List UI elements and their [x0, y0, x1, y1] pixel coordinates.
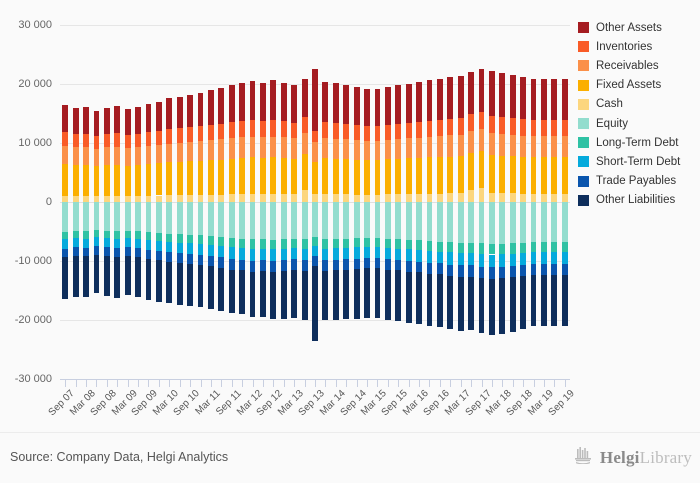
bar-segment [177, 243, 183, 253]
bar-column[interactable] [499, 25, 505, 379]
bar-segment [364, 160, 370, 195]
bar-series-group [60, 25, 570, 379]
bar-segment [458, 202, 464, 243]
bar-segment [198, 255, 204, 265]
bar-segment [551, 242, 557, 252]
bar-segment [489, 202, 495, 244]
bar-column[interactable] [250, 25, 256, 379]
bar-segment [416, 158, 422, 194]
bar-segment [458, 156, 464, 193]
bar-segment [208, 266, 214, 309]
bar-segment [239, 137, 245, 158]
bar-segment [322, 249, 328, 261]
legend-item[interactable]: Receivables [578, 56, 700, 75]
bar-segment [354, 160, 360, 195]
bar-segment [312, 266, 318, 340]
bar-segment [114, 257, 120, 297]
bar-segment [499, 134, 505, 156]
legend-item[interactable]: Other Liabilities [578, 191, 700, 210]
bar-column[interactable] [343, 25, 349, 379]
bar-segment [166, 262, 172, 304]
bar-segment [385, 87, 391, 125]
bar-segment [83, 202, 89, 231]
bar-column[interactable] [479, 25, 485, 379]
bar-segment [364, 258, 370, 268]
bar-segment [416, 82, 422, 122]
bar-segment [520, 253, 526, 265]
bar-segment [354, 140, 360, 159]
bar-segment [551, 136, 557, 157]
bar-segment [104, 231, 110, 238]
bar-segment [447, 135, 453, 156]
chart-container: 30 00020 00010 0000-10 000-20 000-30 000… [0, 0, 700, 483]
bar-segment [114, 202, 120, 231]
bar-segment [531, 202, 537, 242]
bar-segment [437, 120, 443, 137]
bar-segment [520, 136, 526, 157]
bar-segment [146, 232, 152, 240]
bar-column[interactable] [62, 25, 68, 379]
bar-segment [551, 264, 557, 275]
legend-swatch [578, 22, 589, 33]
bar-segment [510, 243, 516, 253]
bar-segment [510, 156, 516, 193]
bar-segment [187, 161, 193, 195]
bar-segment [343, 248, 349, 259]
bar-column[interactable] [541, 25, 547, 379]
bar-segment [333, 248, 339, 260]
bar-segment [187, 264, 193, 306]
bar-segment [541, 275, 547, 327]
legend-swatch [578, 156, 589, 167]
bar-segment [375, 141, 381, 160]
bar-segment [94, 111, 100, 136]
bar-segment [395, 159, 401, 194]
bar-segment [406, 261, 412, 272]
bar-segment [458, 265, 464, 276]
bar-segment [531, 79, 537, 120]
bar-segment [83, 165, 89, 196]
bar-segment [395, 194, 401, 202]
bar-segment [427, 202, 433, 241]
bar-segment [427, 194, 433, 202]
bar-segment [489, 279, 495, 335]
bar-segment [458, 277, 464, 331]
bar-segment [447, 202, 453, 242]
legend-item[interactable]: Fixed Assets [578, 76, 700, 95]
bar-segment [291, 270, 297, 319]
bar-segment [343, 194, 349, 202]
bar-segment [208, 90, 214, 124]
bar-segment [510, 277, 516, 332]
bar-segment [406, 138, 412, 158]
bar-column[interactable] [531, 25, 537, 379]
bar-segment [468, 253, 474, 265]
bar-column[interactable] [322, 25, 328, 379]
bar-segment [291, 123, 297, 139]
bar-segment [437, 157, 443, 194]
bar-segment [146, 196, 152, 202]
legend-label: Other Liabilities [596, 194, 675, 206]
bar-segment [208, 195, 214, 202]
bar-segment [489, 116, 495, 134]
bar-segment [291, 259, 297, 269]
bar-column[interactable] [94, 25, 100, 379]
bar-segment [468, 243, 474, 253]
bar-segment [187, 243, 193, 254]
bar-segment [114, 133, 120, 147]
bar-segment [499, 244, 505, 255]
bar-segment [343, 139, 349, 159]
bar-column[interactable] [281, 25, 287, 379]
bar-segment [229, 85, 235, 122]
bar-column[interactable] [166, 25, 172, 379]
bar-segment [281, 158, 287, 194]
bar-segment [125, 238, 131, 247]
legend-label: Short-Term Debt [596, 156, 680, 168]
source-note: Source: Company Data, Helgi Analytics [10, 450, 228, 464]
bar-segment [364, 268, 370, 318]
bar-segment [208, 125, 214, 140]
bar-segment [437, 136, 443, 157]
bar-segment [114, 106, 120, 133]
bar-segment [239, 260, 245, 271]
bar-column[interactable] [333, 25, 339, 379]
bar-segment [354, 87, 360, 125]
bar-segment [73, 231, 79, 238]
bar-segment [364, 126, 370, 141]
bar-segment [250, 137, 256, 158]
bar-segment [291, 159, 297, 195]
bar-segment [135, 107, 141, 134]
bar-segment [73, 202, 79, 231]
bar-segment [187, 142, 193, 161]
legend-item[interactable]: Trade Payables [578, 172, 700, 191]
bar-column[interactable] [447, 25, 453, 379]
bar-segment [260, 137, 266, 158]
bar-column[interactable] [489, 25, 495, 379]
bar-column[interactable] [312, 25, 318, 379]
bar-column[interactable] [354, 25, 360, 379]
bar-segment [437, 194, 443, 202]
bar-segment [94, 230, 100, 237]
bar-segment [198, 244, 204, 255]
bar-column[interactable] [146, 25, 152, 379]
bar-segment [479, 188, 485, 202]
legend-item[interactable]: Other Assets [578, 18, 700, 37]
bar-column[interactable] [375, 25, 381, 379]
bar-segment [333, 270, 339, 319]
bar-segment [135, 248, 141, 257]
bar-segment [208, 160, 214, 195]
bar-column[interactable] [83, 25, 89, 379]
bar-segment [177, 195, 183, 202]
legend-item[interactable]: Equity [578, 114, 700, 133]
bar-segment [104, 238, 110, 247]
y-axis-tick-label: -30 000 [0, 374, 52, 385]
bar-segment [499, 156, 505, 193]
bar-segment [250, 157, 256, 194]
bar-segment [83, 256, 89, 297]
bar-segment [229, 238, 235, 247]
bar-segment [541, 120, 547, 137]
bar-segment [125, 256, 131, 295]
bar-segment [437, 202, 443, 242]
bar-segment [177, 263, 183, 305]
bar-segment [385, 194, 391, 202]
bar-column[interactable] [239, 25, 245, 379]
bar-segment [562, 136, 568, 157]
bar-segment [499, 267, 505, 279]
bar-segment [416, 122, 422, 138]
bar-segment [229, 270, 235, 314]
bar-segment [218, 268, 224, 311]
bar-segment [291, 138, 297, 158]
bar-segment [250, 81, 256, 121]
bar-segment [375, 247, 381, 258]
bar-column[interactable] [437, 25, 443, 379]
bar-segment [260, 271, 266, 318]
bar-segment [73, 134, 79, 147]
bar-segment [291, 194, 297, 202]
legend-item[interactable]: Long-Term Debt [578, 133, 700, 152]
bar-segment [551, 252, 557, 264]
bar-segment [83, 248, 89, 257]
bar-segment [333, 239, 339, 248]
legend-label: Other Assets [596, 22, 662, 34]
bar-segment [458, 118, 464, 135]
bar-segment [562, 264, 568, 275]
bar-segment [343, 85, 349, 123]
bar-segment [312, 202, 318, 237]
bar-segment [208, 245, 214, 256]
bar-segment [447, 276, 453, 330]
bar-column[interactable] [187, 25, 193, 379]
bar-column[interactable] [260, 25, 266, 379]
bar-segment [291, 248, 297, 259]
bar-segment [531, 136, 537, 157]
bar-segment [437, 79, 443, 120]
bar-segment [395, 202, 401, 239]
bar-segment [541, 264, 547, 275]
bar-segment [135, 134, 141, 148]
bar-column[interactable] [125, 25, 131, 379]
bar-segment [135, 257, 141, 297]
bar-segment [166, 242, 172, 252]
bar-segment [146, 164, 152, 196]
bar-column[interactable] [385, 25, 391, 379]
bar-segment [364, 238, 370, 247]
bar-segment [427, 80, 433, 120]
bar-segment [437, 252, 443, 264]
bar-segment [562, 275, 568, 327]
bar-column[interactable] [364, 25, 370, 379]
bar-segment [239, 202, 245, 239]
legend-label: Equity [596, 118, 628, 130]
bar-segment [375, 238, 381, 247]
bar-segment [218, 88, 224, 124]
bar-column[interactable] [291, 25, 297, 379]
bar-segment [354, 269, 360, 319]
bar-segment [239, 194, 245, 202]
bar-segment [385, 125, 391, 140]
bar-segment [499, 278, 505, 333]
bar-segment [343, 159, 349, 194]
bar-segment [250, 194, 256, 202]
y-axis-tick-label: -20 000 [0, 315, 52, 326]
bar-segment [312, 237, 318, 246]
bar-segment [395, 85, 401, 123]
bar-column[interactable] [135, 25, 141, 379]
bar-segment [333, 83, 339, 123]
bar-segment [541, 79, 547, 120]
bar-segment [562, 79, 568, 120]
bar-column[interactable] [468, 25, 474, 379]
bar-column[interactable] [458, 25, 464, 379]
bar-segment [270, 261, 276, 272]
bar-segment [531, 120, 537, 137]
bar-segment [385, 140, 391, 159]
bar-segment [427, 251, 433, 263]
bar-column[interactable] [395, 25, 401, 379]
bar-segment [406, 202, 412, 240]
bar-segment [551, 79, 557, 120]
bar-column[interactable] [510, 25, 516, 379]
bar-column[interactable] [218, 25, 224, 379]
bar-segment [198, 235, 204, 244]
bar-column[interactable] [416, 25, 422, 379]
bar-segment [260, 239, 266, 248]
bar-segment [187, 254, 193, 264]
bar-segment [499, 73, 505, 117]
bar-segment [73, 256, 79, 297]
bar-segment [114, 147, 120, 165]
bar-segment [73, 238, 79, 247]
bar-segment [531, 194, 537, 202]
bar-segment [364, 195, 370, 202]
bar-segment [489, 255, 495, 268]
bar-segment [333, 194, 339, 202]
bar-column[interactable] [302, 25, 308, 379]
bar-segment [447, 157, 453, 194]
legend-item[interactable]: Short-Term Debt [578, 152, 700, 171]
bar-segment [489, 71, 495, 115]
bar-column[interactable] [114, 25, 120, 379]
bar-segment [62, 239, 68, 248]
bar-segment [62, 202, 68, 232]
bar-segment [62, 146, 68, 164]
library-building-icon [574, 447, 594, 469]
y-axis-tick-label: 20 000 [0, 79, 52, 90]
legend-item[interactable]: Cash [578, 95, 700, 114]
bar-segment [166, 234, 172, 242]
bar-column[interactable] [270, 25, 276, 379]
bar-column[interactable] [427, 25, 433, 379]
bar-segment [447, 193, 453, 202]
bar-segment [312, 246, 318, 257]
bar-segment [489, 155, 495, 193]
bar-segment [125, 231, 131, 238]
bar-segment [218, 195, 224, 202]
bar-column[interactable] [551, 25, 557, 379]
bar-segment [239, 248, 245, 260]
bar-segment [406, 158, 412, 194]
bar-segment [208, 236, 214, 245]
bar-segment [270, 240, 276, 250]
y-axis-labels: 30 00020 00010 0000-10 000-20 000-30 000 [0, 25, 52, 379]
bar-segment [177, 143, 183, 162]
bar-segment [499, 117, 505, 134]
bar-segment [83, 231, 89, 238]
bar-segment [135, 147, 141, 165]
bar-segment [520, 276, 526, 329]
bar-segment [395, 249, 401, 260]
legend-swatch [578, 137, 589, 148]
bar-segment [83, 147, 89, 165]
bar-segment [62, 132, 68, 146]
bar-segment [281, 194, 287, 202]
bar-segment [260, 194, 266, 202]
legend-label: Fixed Assets [596, 79, 661, 91]
bar-column[interactable] [198, 25, 204, 379]
bar-column[interactable] [156, 25, 162, 379]
bar-segment [94, 246, 100, 254]
bar-column[interactable] [406, 25, 412, 379]
bar-segment [562, 194, 568, 202]
bar-segment [458, 76, 464, 118]
legend-swatch [578, 60, 589, 71]
bar-segment [468, 202, 474, 243]
bar-column[interactable] [73, 25, 79, 379]
bar-segment [62, 249, 68, 258]
bar-segment [510, 118, 516, 135]
bar-segment [281, 137, 287, 158]
bar-segment [260, 249, 266, 261]
bar-column[interactable] [520, 25, 526, 379]
bar-segment [479, 254, 485, 267]
legend-label: Long-Term Debt [596, 137, 678, 149]
bar-column[interactable] [177, 25, 183, 379]
bar-segment [166, 195, 172, 202]
brand-name: HelgiLibrary [600, 448, 692, 468]
bar-segment [520, 119, 526, 136]
bar-segment [479, 202, 485, 243]
bar-segment [531, 242, 537, 252]
bar-segment [198, 141, 204, 161]
bar-segment [385, 259, 391, 269]
bar-segment [260, 121, 266, 137]
bar-segment [62, 105, 68, 133]
bar-segment [270, 137, 276, 158]
bar-segment [447, 119, 453, 136]
bar-column[interactable] [104, 25, 110, 379]
bar-segment [520, 202, 526, 243]
bar-segment [73, 165, 79, 196]
bar-segment [177, 97, 183, 128]
bar-segment [562, 252, 568, 264]
bar-segment [385, 270, 391, 321]
bar-segment [364, 202, 370, 238]
bar-segment [250, 272, 256, 317]
bar-segment [198, 202, 204, 235]
bar-segment [198, 93, 204, 126]
bar-column[interactable] [562, 25, 568, 379]
bar-segment [156, 251, 162, 260]
bar-column[interactable] [208, 25, 214, 379]
bar-column[interactable] [229, 25, 235, 379]
legend-item[interactable]: Inventories [578, 37, 700, 56]
bar-segment [177, 162, 183, 195]
